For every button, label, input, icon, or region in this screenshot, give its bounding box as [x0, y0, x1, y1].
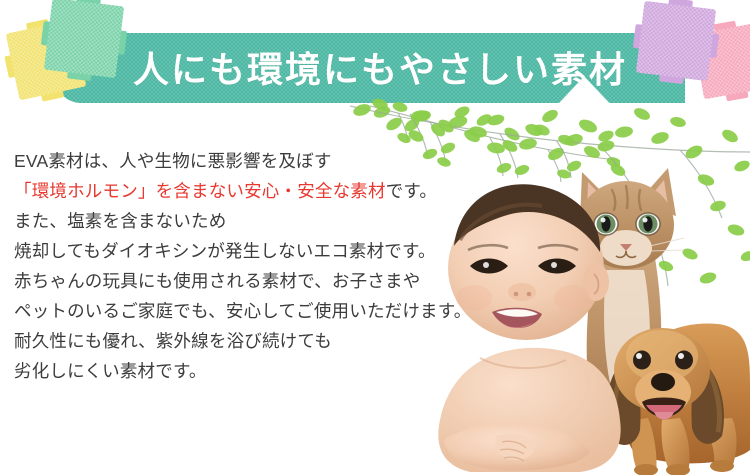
body-copy-text: 耐久性にも優れ、紫外線を浴び続けても: [14, 331, 332, 351]
banner-title: 人にも環境にもやさしい素材: [110, 41, 650, 99]
dog-figure: [606, 323, 750, 475]
body-copy-line: 焼却してもダイオキシンが発生しないエコ素材です。: [14, 236, 534, 266]
body-copy-highlight: 「環境ホルモン」を含まない安心・安全な素材: [14, 181, 386, 201]
body-copy-text: 赤ちゃんの玩具にも使用される素材で、お子さまや: [14, 271, 420, 291]
cat-figure: [568, 168, 684, 415]
puzzle-mat-purple: [636, 1, 716, 81]
body-copy-text: です。: [386, 181, 437, 201]
body-copy-line: 「環境ホルモン」を含まない安心・安全な素材です。: [14, 176, 534, 206]
body-copy: EVA素材は、人や生物に悪影響を及ぼす「環境ホルモン」を含まない安心・安全な素材…: [14, 146, 534, 386]
body-copy-line: 赤ちゃんの玩具にも使用される素材で、お子さまや: [14, 266, 534, 296]
body-copy-line: 劣化しにくい素材です。: [14, 356, 534, 386]
body-copy-line: 耐久性にも優れ、紫外線を浴び続けても: [14, 326, 534, 356]
body-copy-text: 焼却してもダイオキシンが発生しないエコ素材です。: [14, 241, 436, 261]
promo-banner-page: 人にも環境にもやさしい素材 EVA素材は、人や生物に悪影響を及ぼす「環境ホルモン…: [0, 0, 750, 475]
body-copy-text: また、塩素を含まないため: [14, 211, 226, 231]
body-copy-line: また、塩素を含まないため: [14, 206, 534, 236]
body-copy-line: EVA素材は、人や生物に悪影響を及ぼす: [14, 146, 534, 176]
body-copy-line: ペットのいるご家庭でも、安心してご使用いただけます。: [14, 296, 534, 326]
header-banner: 人にも環境にもやさしい素材: [0, 0, 750, 125]
body-copy-text: EVA素材は、人や生物に悪影響を及ぼす: [14, 151, 332, 171]
body-copy-text: ペットのいるご家庭でも、安心してご使用いただけます。: [14, 301, 471, 321]
body-copy-text: 劣化しにくい素材です。: [14, 361, 207, 381]
